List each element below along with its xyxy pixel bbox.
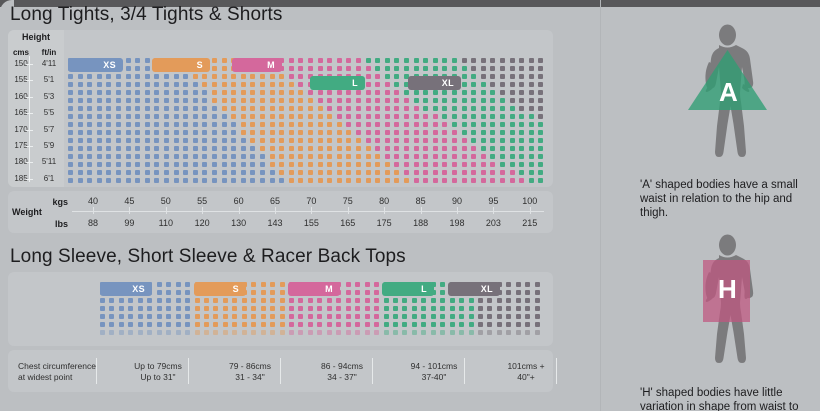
height-ftin: 5'5: [34, 108, 64, 117]
grid-dot: [478, 330, 483, 335]
grid-dot: [308, 130, 313, 135]
grid-dot: [212, 170, 217, 175]
grid-dot: [97, 106, 102, 111]
grid-dot: [452, 58, 457, 63]
grid-dot: [213, 322, 218, 327]
grid-dot: [242, 306, 247, 311]
size-tag-l: L: [382, 282, 434, 296]
grid-dot: [497, 298, 502, 303]
grid-dot: [260, 130, 265, 135]
grid-dot: [280, 298, 285, 303]
grid-dot: [442, 138, 447, 143]
grid-dot: [174, 114, 179, 119]
grid-dot: [538, 58, 543, 63]
grid-dot: [414, 106, 419, 111]
grid-dot: [250, 98, 255, 103]
grid-dot: [289, 74, 294, 79]
grid-dot: [366, 138, 371, 143]
grid-dot: [164, 154, 169, 159]
grid-dot: [154, 98, 159, 103]
grid-dot: [251, 322, 256, 327]
body-shape-h-figure: H: [640, 232, 815, 382]
grid-dot: [337, 162, 342, 167]
grid-dot: [106, 130, 111, 135]
grid-dot: [270, 314, 275, 319]
grid-dot: [423, 154, 428, 159]
grid-dot: [308, 58, 313, 63]
grid-dot: [346, 178, 351, 183]
grid-dot: [519, 138, 524, 143]
chest-cell-in: Up to 31": [108, 372, 208, 383]
grid-dot: [471, 154, 476, 159]
grid-dot: [135, 162, 140, 167]
grid-dot: [202, 178, 207, 183]
grid-dot: [337, 146, 342, 151]
weight-lb-value: 175: [367, 218, 401, 228]
grid-dot: [450, 306, 455, 311]
grid-dot: [337, 170, 342, 175]
grid-dot: [87, 138, 92, 143]
grid-dot: [327, 90, 332, 95]
grid-dot: [490, 162, 495, 167]
grid-dot: [336, 298, 341, 303]
grid-dot: [525, 322, 530, 327]
grid-dot: [183, 146, 188, 151]
grid-dot: [384, 314, 389, 319]
weight-lb-value: 130: [222, 218, 256, 228]
grid-dot: [469, 306, 474, 311]
grid-dot: [440, 314, 445, 319]
grid-dot: [423, 178, 428, 183]
grid-dot: [535, 290, 540, 295]
weight-kg-value: 60: [222, 196, 256, 206]
grid-dot: [154, 138, 159, 143]
grid-dot: [490, 74, 495, 79]
grid-dot: [231, 106, 236, 111]
size-tag-m: M: [288, 282, 340, 296]
grid-dot: [87, 98, 92, 103]
grid-dot: [222, 58, 227, 63]
grid-dot: [421, 298, 426, 303]
grid-dot: [242, 298, 247, 303]
grid-dot: [174, 138, 179, 143]
grid-dot: [126, 154, 131, 159]
grid-dot: [375, 178, 380, 183]
grid-dot: [78, 138, 83, 143]
grid-dot: [510, 106, 515, 111]
grid-dot: [270, 170, 275, 175]
grid-dot: [452, 178, 457, 183]
tights-chart-title: Long Tights, 3/4 Tights & Shorts: [10, 4, 283, 26]
grid-dot: [519, 130, 524, 135]
grid-dot: [289, 306, 294, 311]
height-axis-header: Height: [8, 32, 64, 42]
grid-dot: [279, 98, 284, 103]
weight-tick: [93, 207, 94, 214]
grid-dot: [365, 290, 370, 295]
grid-dot: [375, 114, 380, 119]
grid-dot: [280, 306, 285, 311]
grid-dot: [97, 130, 102, 135]
height-row: 1605'3: [8, 91, 64, 107]
grid-dot: [442, 58, 447, 63]
grid-dot: [394, 106, 399, 111]
grid-dot: [519, 154, 524, 159]
grid-dot: [450, 298, 455, 303]
grid-dot: [97, 122, 102, 127]
grid-dot: [394, 162, 399, 167]
grid-dot: [452, 170, 457, 175]
grid-dot: [241, 74, 246, 79]
weight-tick: [421, 207, 422, 214]
grid-dot: [414, 66, 419, 71]
grid-dot: [270, 130, 275, 135]
grid-dot: [261, 290, 266, 295]
grid-dot: [116, 106, 121, 111]
grid-dot: [116, 154, 121, 159]
grid-dot: [440, 298, 445, 303]
grid-dot: [506, 298, 511, 303]
grid-dot: [414, 178, 419, 183]
grid-dot: [126, 58, 131, 63]
grid-dot: [97, 98, 102, 103]
grid-dot: [433, 138, 438, 143]
grid-dot: [469, 314, 474, 319]
grid-dot: [452, 66, 457, 71]
grid-dot: [462, 178, 467, 183]
weight-kg-value: 65: [258, 196, 292, 206]
grid-dot: [195, 330, 200, 335]
grid-dot: [433, 170, 438, 175]
grid-dot: [471, 162, 476, 167]
grid-dot: [506, 314, 511, 319]
grid-dot: [241, 146, 246, 151]
grid-dot: [145, 154, 150, 159]
grid-dot: [135, 170, 140, 175]
grid-dot: [402, 314, 407, 319]
grid-dot: [490, 170, 495, 175]
grid-dot: [500, 58, 505, 63]
grid-dot: [510, 146, 515, 151]
grid-dot: [183, 154, 188, 159]
grid-dot: [135, 138, 140, 143]
grid-dot: [490, 106, 495, 111]
grid-dot: [308, 66, 313, 71]
grid-dot: [106, 122, 111, 127]
grid-dot: [308, 138, 313, 143]
grid-dot: [202, 122, 207, 127]
grid-dot: [223, 314, 228, 319]
grid-dot: [487, 298, 492, 303]
grid-dot: [510, 162, 515, 167]
grid-dot: [119, 298, 124, 303]
grid-dot: [497, 322, 502, 327]
grid-dot: [355, 282, 360, 287]
grid-dot: [289, 146, 294, 151]
grid-dot: [87, 154, 92, 159]
grid-dot: [119, 322, 124, 327]
grid-dot: [412, 314, 417, 319]
grid-dot: [109, 314, 114, 319]
grid-dot: [375, 122, 380, 127]
grid-dot: [231, 170, 236, 175]
grid-dot: [116, 90, 121, 95]
chest-divider: [556, 358, 557, 384]
grid-dot: [157, 322, 162, 327]
grid-dot: [174, 90, 179, 95]
grid-dot: [462, 122, 467, 127]
grid-dot: [183, 74, 188, 79]
grid-dot: [346, 130, 351, 135]
grid-dot: [116, 178, 121, 183]
grid-dot: [394, 90, 399, 95]
grid-dot: [423, 138, 428, 143]
grid-dot: [154, 122, 159, 127]
grid-dot: [538, 170, 543, 175]
grid-dot: [346, 106, 351, 111]
grid-dot: [414, 98, 419, 103]
grid-dot: [154, 170, 159, 175]
grid-dot: [327, 130, 332, 135]
grid-dot: [298, 106, 303, 111]
grid-dot: [500, 106, 505, 111]
grid-dot: [202, 106, 207, 111]
grid-dot: [385, 146, 390, 151]
grid-dot: [414, 58, 419, 63]
grid-dot: [193, 178, 198, 183]
grid-dot: [346, 170, 351, 175]
grid-dot: [106, 98, 111, 103]
grid-dot: [346, 162, 351, 167]
grid-dot: [157, 306, 162, 311]
grid-dot: [222, 170, 227, 175]
grid-dot: [385, 58, 390, 63]
grid-dot: [135, 146, 140, 151]
grid-dot: [365, 314, 370, 319]
grid-dot: [183, 162, 188, 167]
grid-dot: [535, 298, 540, 303]
grid-dot: [433, 178, 438, 183]
grid-dot: [490, 58, 495, 63]
grid-dot: [500, 154, 505, 159]
grid-dot: [346, 138, 351, 143]
grid-dot: [538, 154, 543, 159]
height-row: 1805'11: [8, 156, 64, 172]
grid-dot: [251, 282, 256, 287]
grid-dot: [519, 114, 524, 119]
grid-dot: [116, 130, 121, 135]
grid-dot: [529, 130, 534, 135]
grid-dot: [298, 58, 303, 63]
grid-dot: [346, 146, 351, 151]
grid-dot: [119, 330, 124, 335]
grid-dot: [497, 330, 502, 335]
grid-dot: [231, 122, 236, 127]
grid-dot: [138, 306, 143, 311]
grid-dot: [385, 98, 390, 103]
grid-dot: [176, 322, 181, 327]
grid-dot: [135, 66, 140, 71]
grid-dot: [346, 330, 351, 335]
grid-dot: [356, 138, 361, 143]
grid-dot: [365, 330, 370, 335]
grid-dot: [261, 282, 266, 287]
grid-dot: [393, 330, 398, 335]
grid-dot: [193, 162, 198, 167]
grid-dot: [298, 114, 303, 119]
grid-dot: [366, 82, 371, 87]
grid-dot: [500, 138, 505, 143]
height-unit-ftin: ft/in: [34, 48, 64, 57]
grid-dot: [374, 322, 379, 327]
grid-dot: [412, 322, 417, 327]
grid-dot: [404, 98, 409, 103]
chest-divider: [96, 358, 97, 384]
grid-dot: [270, 82, 275, 87]
grid-dot: [145, 82, 150, 87]
grid-dot: [174, 154, 179, 159]
grid-dot: [442, 130, 447, 135]
grid-dot: [298, 170, 303, 175]
grid-dot: [260, 98, 265, 103]
grid-dot: [431, 306, 436, 311]
grid-dot: [393, 322, 398, 327]
grid-dot: [289, 58, 294, 63]
height-tick: [26, 146, 33, 147]
height-row: 1555'1: [8, 74, 64, 90]
grid-dot: [385, 154, 390, 159]
grid-dot: [327, 162, 332, 167]
grid-dot: [471, 130, 476, 135]
grid-dot: [223, 330, 228, 335]
grid-dot: [393, 306, 398, 311]
grid-dot: [318, 58, 323, 63]
grid-dot: [222, 178, 227, 183]
grid-dot: [462, 170, 467, 175]
grid-dot: [384, 322, 389, 327]
grid-dot: [459, 322, 464, 327]
grid-dot: [166, 306, 171, 311]
grid-dot: [68, 106, 73, 111]
grid-dot: [166, 290, 171, 295]
grid-dot: [384, 330, 389, 335]
grid-dot: [68, 138, 73, 143]
grid-dot: [510, 114, 515, 119]
grid-dot: [308, 154, 313, 159]
grid-dot: [500, 122, 505, 127]
grid-dot: [116, 114, 121, 119]
grid-dot: [519, 106, 524, 111]
grid-dot: [423, 114, 428, 119]
grid-dot: [327, 154, 332, 159]
weight-kg-value: 70: [294, 196, 328, 206]
grid-dot: [318, 130, 323, 135]
grid-dot: [174, 106, 179, 111]
grid-dot: [500, 82, 505, 87]
grid-dot: [261, 314, 266, 319]
grid-dot: [174, 146, 179, 151]
grid-dot: [289, 322, 294, 327]
weight-lb-value: 203: [476, 218, 510, 228]
grid-dot: [289, 114, 294, 119]
grid-dot: [193, 146, 198, 151]
grid-dot: [404, 58, 409, 63]
weight-kg-value: 40: [76, 196, 110, 206]
grid-dot: [327, 298, 332, 303]
grid-dot: [481, 82, 486, 87]
grid-dot: [270, 282, 275, 287]
grid-dot: [135, 106, 140, 111]
grid-dot: [164, 122, 169, 127]
grid-dot: [529, 98, 534, 103]
height-ftin: 5'1: [34, 75, 64, 84]
grid-dot: [145, 146, 150, 151]
grid-dot: [250, 114, 255, 119]
grid-dot: [241, 90, 246, 95]
grid-dot: [318, 162, 323, 167]
weight-lb-value: 215: [513, 218, 547, 228]
grid-dot: [222, 98, 227, 103]
grid-dot: [241, 170, 246, 175]
grid-dot: [231, 130, 236, 135]
grid-dot: [231, 162, 236, 167]
grid-dot: [68, 74, 73, 79]
grid-dot: [442, 146, 447, 151]
grid-dot: [280, 330, 285, 335]
grid-dot: [126, 178, 131, 183]
grid-dot: [337, 114, 342, 119]
grid-dot: [317, 306, 322, 311]
grid-dot: [385, 90, 390, 95]
grid-dot: [222, 122, 227, 127]
grid-dot: [298, 138, 303, 143]
grid-dot: [366, 66, 371, 71]
weight-lb-value: 99: [112, 218, 146, 228]
grid-dot: [204, 330, 209, 335]
grid-dot: [404, 130, 409, 135]
grid-dot: [128, 298, 133, 303]
chest-divider: [372, 358, 373, 384]
weight-lb-value: 120: [185, 218, 219, 228]
grid-dot: [529, 154, 534, 159]
grid-dot: [193, 98, 198, 103]
grid-dot: [525, 314, 530, 319]
grid-dot: [510, 122, 515, 127]
height-ftin: 5'11: [34, 157, 64, 166]
weight-lb-value: 188: [404, 218, 438, 228]
grid-dot: [185, 330, 190, 335]
grid-dot: [231, 154, 236, 159]
grid-dot: [481, 58, 486, 63]
grid-dot: [538, 66, 543, 71]
chest-cell-cms: 94 - 101cms: [384, 361, 484, 372]
grid-dot: [452, 162, 457, 167]
grid-dot: [421, 330, 426, 335]
grid-dot: [519, 66, 524, 71]
grid-dot: [452, 98, 457, 103]
grid-dot: [516, 290, 521, 295]
grid-dot: [375, 138, 380, 143]
grid-dot: [135, 90, 140, 95]
grid-dot: [289, 162, 294, 167]
grid-dot: [519, 178, 524, 183]
grid-dot: [337, 122, 342, 127]
grid-dot: [109, 330, 114, 335]
grid-dot: [433, 114, 438, 119]
grid-dot: [356, 162, 361, 167]
grid-dot: [471, 114, 476, 119]
grid-dot: [154, 146, 159, 151]
